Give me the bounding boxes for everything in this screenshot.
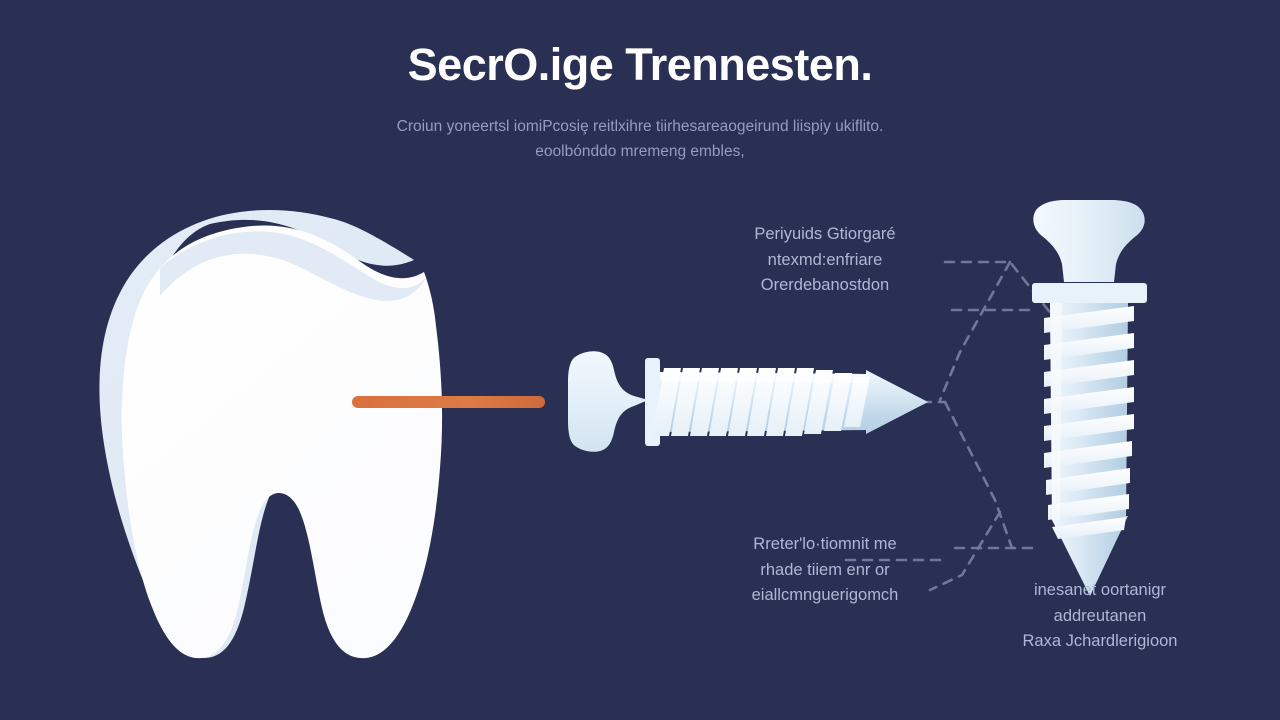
page-subtitle: Croiun yoneertsl iomiPcosiȩ reitlxihre … [240, 114, 1040, 164]
subtitle-line-1: Croiun yoneertsl iomiPcosiȩ reitlxihre … [240, 114, 1040, 139]
annotation-lower-left-line-1: Rreter'lo·tiomnit me [700, 532, 950, 558]
annotation-lower-right: inesanet oortanigr addreutanen Raxa Jcha… [980, 578, 1220, 655]
annotation-lower-left-line-2: rhade tiiem enr or [700, 558, 950, 584]
annotation-upper-left-line-1: Periyuids Gtiorgaré [700, 222, 950, 248]
annotation-upper-left: Periyuids Gtiorgaré ntexmd:enfriare Orer… [700, 222, 950, 299]
annotation-lower-left: Rreter'lo·tiomnit me rhade tiiem enr or … [700, 532, 950, 609]
subtitle-line-2: eoolbónddo mremeng embles, [240, 139, 1040, 164]
infographic-canvas: SecrO.ige Trennesten. Croiun yoneertsl i… [0, 0, 1280, 720]
annotation-upper-left-line-2: ntexmd:enfriare [700, 248, 950, 274]
annotation-lower-right-line-1: inesanet oortanigr [980, 578, 1220, 604]
annotation-lower-right-line-3: Raxa Jchardlerigioon [980, 629, 1220, 655]
annotation-lower-right-line-2: addreutanen [980, 604, 1220, 630]
annotation-lower-left-line-3: eiallcmnguerigomch [700, 583, 950, 609]
orange-pointer-line [352, 396, 545, 408]
annotation-upper-left-line-3: Orerdebanostdon [700, 273, 950, 299]
page-title: SecrO.ige Trennesten. [0, 40, 1280, 90]
